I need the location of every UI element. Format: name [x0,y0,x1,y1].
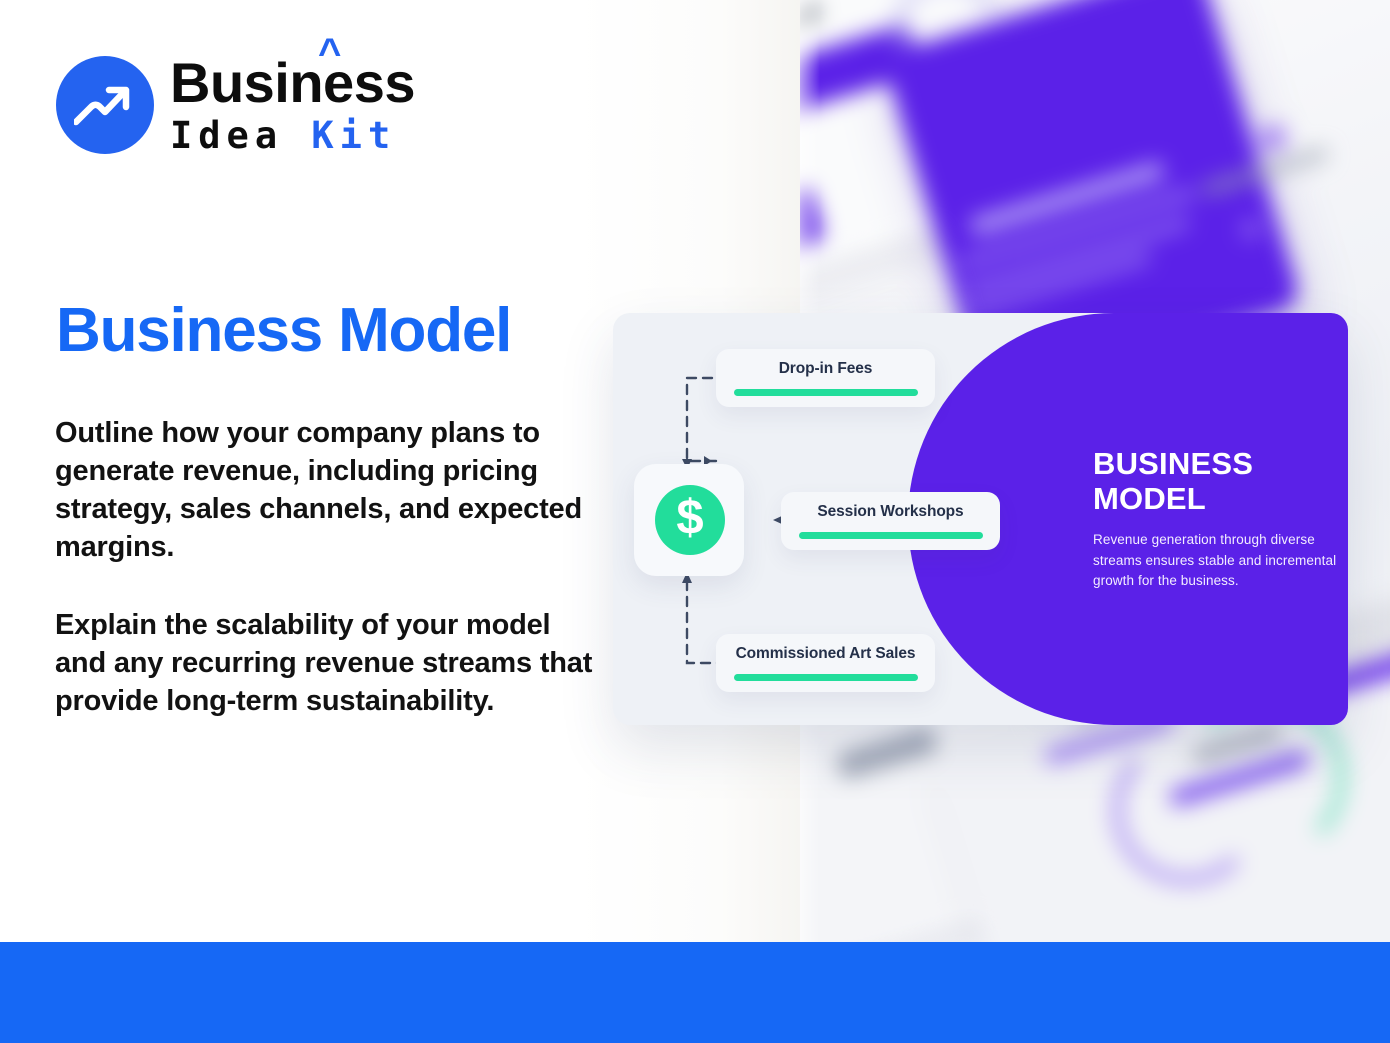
revenue-hub: $ [634,464,744,576]
brand-line-business: Business ^ [170,55,415,111]
slide-page: Business ^ Idea Kit Business Model Outli… [0,0,1390,1043]
page-title: Business Model [56,295,511,366]
purple-panel-title: BUSINESS MODEL [1093,447,1343,516]
revenue-stream-bar [734,674,918,681]
revenue-stream-label: Session Workshops [817,503,963,521]
brand-line-business-text: Business [170,51,415,114]
body-text-block: Outline how your company plans to genera… [55,415,600,721]
dollar-sign-icon: $ [655,485,725,555]
body-paragraph: Outline how your company plans to genera… [55,415,600,567]
body-paragraph: Explain the scalability of your model an… [55,607,600,721]
purple-panel-title-line1: BUSINESS [1093,447,1343,482]
revenue-stream-chip[interactable]: Drop-in Fees [716,349,935,407]
purple-panel-copy: BUSINESS MODEL Revenue generation throug… [1093,447,1343,592]
brand-line-ideakit: Idea Kit [170,117,415,154]
revenue-stream-label: Commissioned Art Sales [736,645,916,663]
footer-bar [0,942,1390,1043]
bg-dot-shape [1260,125,1286,151]
brand-logo: Business ^ Idea Kit [56,55,415,154]
purple-panel-description: Revenue generation through diverse strea… [1093,530,1343,592]
growth-arrow-icon [56,56,154,154]
revenue-stream-label: Drop-in Fees [779,360,873,378]
brand-idea-text: Idea [170,114,283,157]
purple-panel-title-line2: MODEL [1093,482,1343,517]
revenue-stream-chip[interactable]: Commissioned Art Sales [716,634,935,692]
revenue-stream-chip[interactable]: Session Workshops [781,492,1000,550]
brand-wordmark: Business ^ Idea Kit [170,55,415,154]
revenue-stream-bar [734,389,918,396]
dollar-sign-glyph: $ [676,494,703,543]
bg-dot-shape [1242,220,1260,238]
chevron-accent-icon: ^ [318,33,341,73]
revenue-stream-bar [799,532,983,539]
brand-kit-text: Kit [311,114,396,157]
